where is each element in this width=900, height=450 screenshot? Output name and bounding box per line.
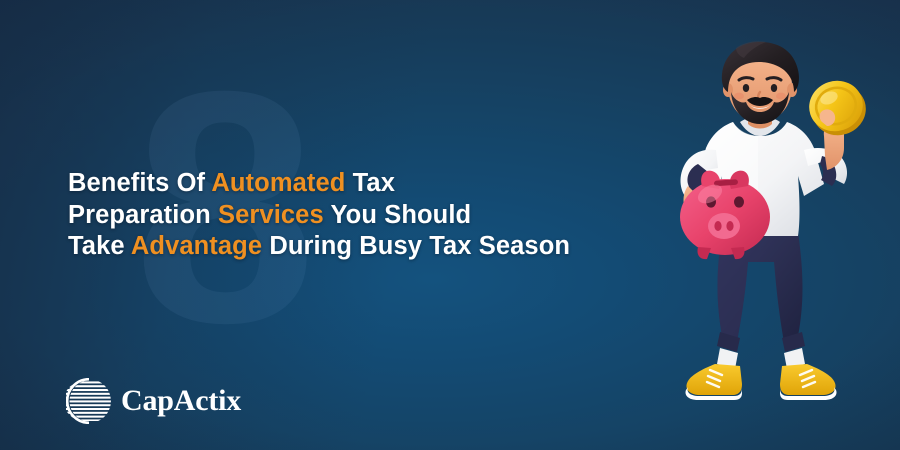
- headline-highlight: Advantage: [131, 232, 262, 260]
- headline-segment: Tax: [345, 169, 395, 197]
- headline-segment: During Busy Tax Season: [262, 232, 570, 260]
- headline-segment: Benefits Of: [68, 169, 211, 197]
- headline-line-1: Benefits Of Automated Tax: [68, 168, 708, 200]
- headline-highlight: Automated: [211, 169, 345, 197]
- headline-line-3: Take Advantage During Busy Tax Season: [68, 231, 708, 263]
- headline-highlight: Services: [218, 201, 324, 229]
- headline-line-2: Preparation Services You Should: [68, 200, 708, 232]
- headline-segment: Preparation: [68, 201, 218, 229]
- illustration-man-holding-piggy-bank-and-coin: [636, 36, 884, 426]
- brand-logo[interactable]: CapActix: [66, 378, 241, 424]
- brand-name: CapActix: [121, 386, 241, 416]
- headline-segment: You Should: [324, 201, 471, 229]
- headline-segment: Take: [68, 232, 131, 260]
- shell-fan-icon: [66, 378, 112, 424]
- headline: Benefits Of Automated Tax Preparation Se…: [68, 168, 708, 263]
- promo-banner: 8 Benefits Of Automated Tax Preparation …: [0, 0, 900, 450]
